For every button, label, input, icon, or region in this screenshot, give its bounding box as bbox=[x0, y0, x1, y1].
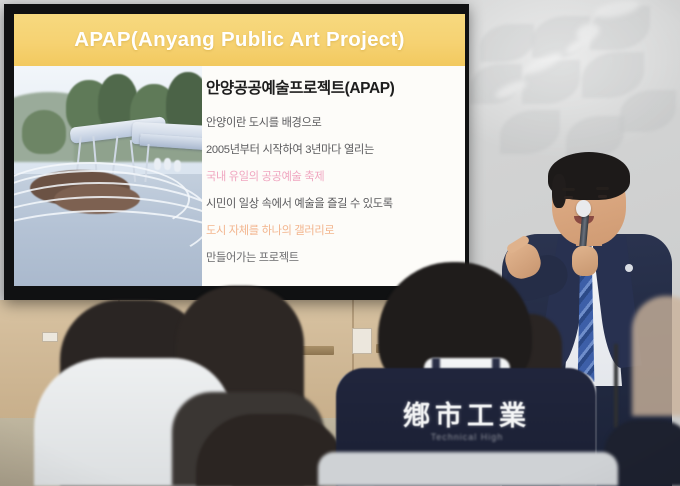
slide-title-text: APAP(Anyang Public Art Project) bbox=[74, 28, 405, 52]
jacket-school-name: 鄕市工業 bbox=[344, 394, 590, 433]
slide-body-line-4: 시민이 일상 속에서 예술을 즐길 수 있도록 bbox=[206, 195, 458, 211]
presenter-eye-right bbox=[598, 195, 607, 198]
chair-back bbox=[318, 452, 618, 486]
slide-body-line-3: 국내 유일의 공공예술 축제 bbox=[206, 168, 458, 184]
presenter-lapel-pin bbox=[625, 264, 633, 272]
presenter-hand-holding-mic bbox=[572, 246, 598, 276]
jacket-school-subtext: Technical High bbox=[344, 432, 590, 442]
presenter-eyebrow-right bbox=[596, 187, 609, 190]
slide-body-line-6: 만들어가는 프로젝트 bbox=[206, 249, 458, 265]
slide-photo-amphitheater bbox=[14, 66, 202, 286]
presenter-hair bbox=[548, 152, 630, 200]
presentation-photo: APAP(Anyang Public Art Project) bbox=[0, 0, 680, 486]
slide-title-banner: APAP(Anyang Public Art Project) bbox=[14, 14, 465, 66]
presentation-slide: APAP(Anyang Public Art Project) bbox=[14, 14, 465, 286]
audience-far-right bbox=[632, 296, 680, 416]
microphone-stand bbox=[614, 344, 618, 428]
slide-body-line-1: 안양이란 도시를 배경으로 bbox=[206, 114, 458, 130]
slide-body-line-5: 도시 자체를 하나의 갤러리로 bbox=[206, 222, 458, 238]
presenter-eyebrow-left bbox=[562, 188, 575, 191]
slide-heading: 안양공공예술프로젝트(APAP) bbox=[206, 76, 458, 98]
slide-body-line-2: 2005년부터 시작하여 3년마다 열리는 bbox=[206, 141, 458, 157]
presenter-eye-left bbox=[564, 196, 573, 199]
slide-text-column: 안양공공예술프로젝트(APAP) 안양이란 도시를 배경으로 2005년부터 시… bbox=[206, 70, 458, 284]
projection-screen: APAP(Anyang Public Art Project) bbox=[4, 4, 469, 300]
microphone-icon bbox=[576, 200, 591, 217]
